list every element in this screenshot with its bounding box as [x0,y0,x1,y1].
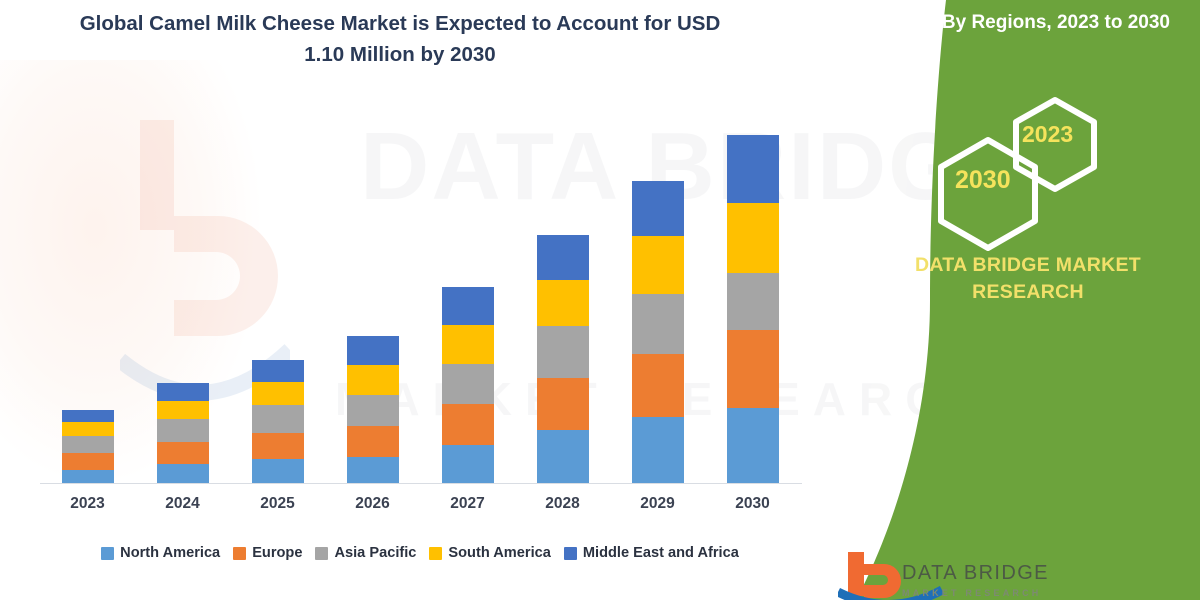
bar-segment [347,365,399,395]
bar-segment [252,459,304,483]
bar-segment [347,336,399,365]
bar-column [157,383,209,483]
bar-segment [62,436,114,453]
bar-segment [157,442,209,464]
bar-segment [157,383,209,401]
legend-swatch-icon [315,547,328,560]
panel-heading: Market, By Regions, 2023 to 2030 [840,8,1170,37]
x-axis-label: 2025 [252,495,304,523]
legend-item[interactable]: Middle East and Africa [564,545,739,561]
bar-column [727,135,779,483]
legend-label: Asia Pacific [334,545,416,561]
x-axis-label: 2029 [632,495,684,523]
bar-column [632,181,684,483]
bar-segment [537,280,589,326]
bar-segment [537,378,589,430]
bar-segment [537,326,589,378]
bar-segment [727,330,779,408]
logo-wordmark: DATA BRIDGE [902,562,1049,585]
panel-brand-text: DATA BRIDGE MARKET RESEARCH [878,252,1178,306]
infographic-root: DATA BRIDGE MARKET RESEARCH 2023 2030 Ma… [0,0,1200,600]
bar-segment [727,203,779,273]
bar-chart-plot [40,100,800,483]
bar-column [347,336,399,483]
bar-segment [62,422,114,436]
legend-item[interactable]: South America [429,545,550,561]
bar-column [537,235,589,483]
bar-segment [727,273,779,330]
x-axis-label: 2028 [537,495,589,523]
legend-label: South America [448,545,550,561]
legend-swatch-icon [233,547,246,560]
bar-segment [632,354,684,417]
bar-segment [632,236,684,294]
bar-segment [157,464,209,483]
bar-segment [157,401,209,419]
hex-badge-2030: 2030 [955,166,1011,195]
bar-segment [632,181,684,236]
legend-label: Europe [252,545,302,561]
bar-segment [62,410,114,422]
bar-segment [252,360,304,382]
bar-segment [727,408,779,483]
bar-segment [347,395,399,426]
chart-legend: North AmericaEuropeAsia PacificSouth Ame… [40,540,800,566]
bar-column [252,360,304,483]
legend-item[interactable]: Asia Pacific [315,545,416,561]
bar-segment [442,287,494,325]
bar-segment [442,364,494,404]
legend-swatch-icon [101,547,114,560]
legend-item[interactable]: Europe [233,545,302,561]
x-axis-label: 2023 [62,495,114,523]
bar-segment [252,433,304,459]
legend-swatch-icon [564,547,577,560]
x-axis-label: 2030 [727,495,779,523]
bar-segment [442,325,494,364]
bar-segment [727,135,779,203]
bar-segment [537,430,589,483]
legend-item[interactable]: North America [101,545,220,561]
bar-column [442,287,494,483]
x-axis-label: 2026 [347,495,399,523]
legend-swatch-icon [429,547,442,560]
bar-segment [347,426,399,457]
bar-column [62,410,114,483]
bar-segment [157,419,209,442]
x-axis-labels: 20232024202520262027202820292030 [40,495,800,523]
legend-label: Middle East and Africa [583,545,739,561]
bar-segment [252,405,304,433]
bar-segment [632,294,684,354]
hex-badge-2023: 2023 [1022,121,1073,148]
legend-label: North America [120,545,220,561]
logo-tagline: MARKET RESEARCH [902,588,1042,598]
x-axis-label: 2024 [157,495,209,523]
bar-segment [252,382,304,405]
bar-segment [62,453,114,470]
x-axis-label: 2027 [442,495,494,523]
bar-segment [442,404,494,445]
bar-segment [62,470,114,483]
bar-segment [537,235,589,280]
bar-segment [632,417,684,483]
page-title: Global Camel Milk Cheese Market is Expec… [60,8,740,70]
x-axis-line [40,483,802,484]
bar-segment [442,445,494,483]
bar-segment [347,457,399,483]
